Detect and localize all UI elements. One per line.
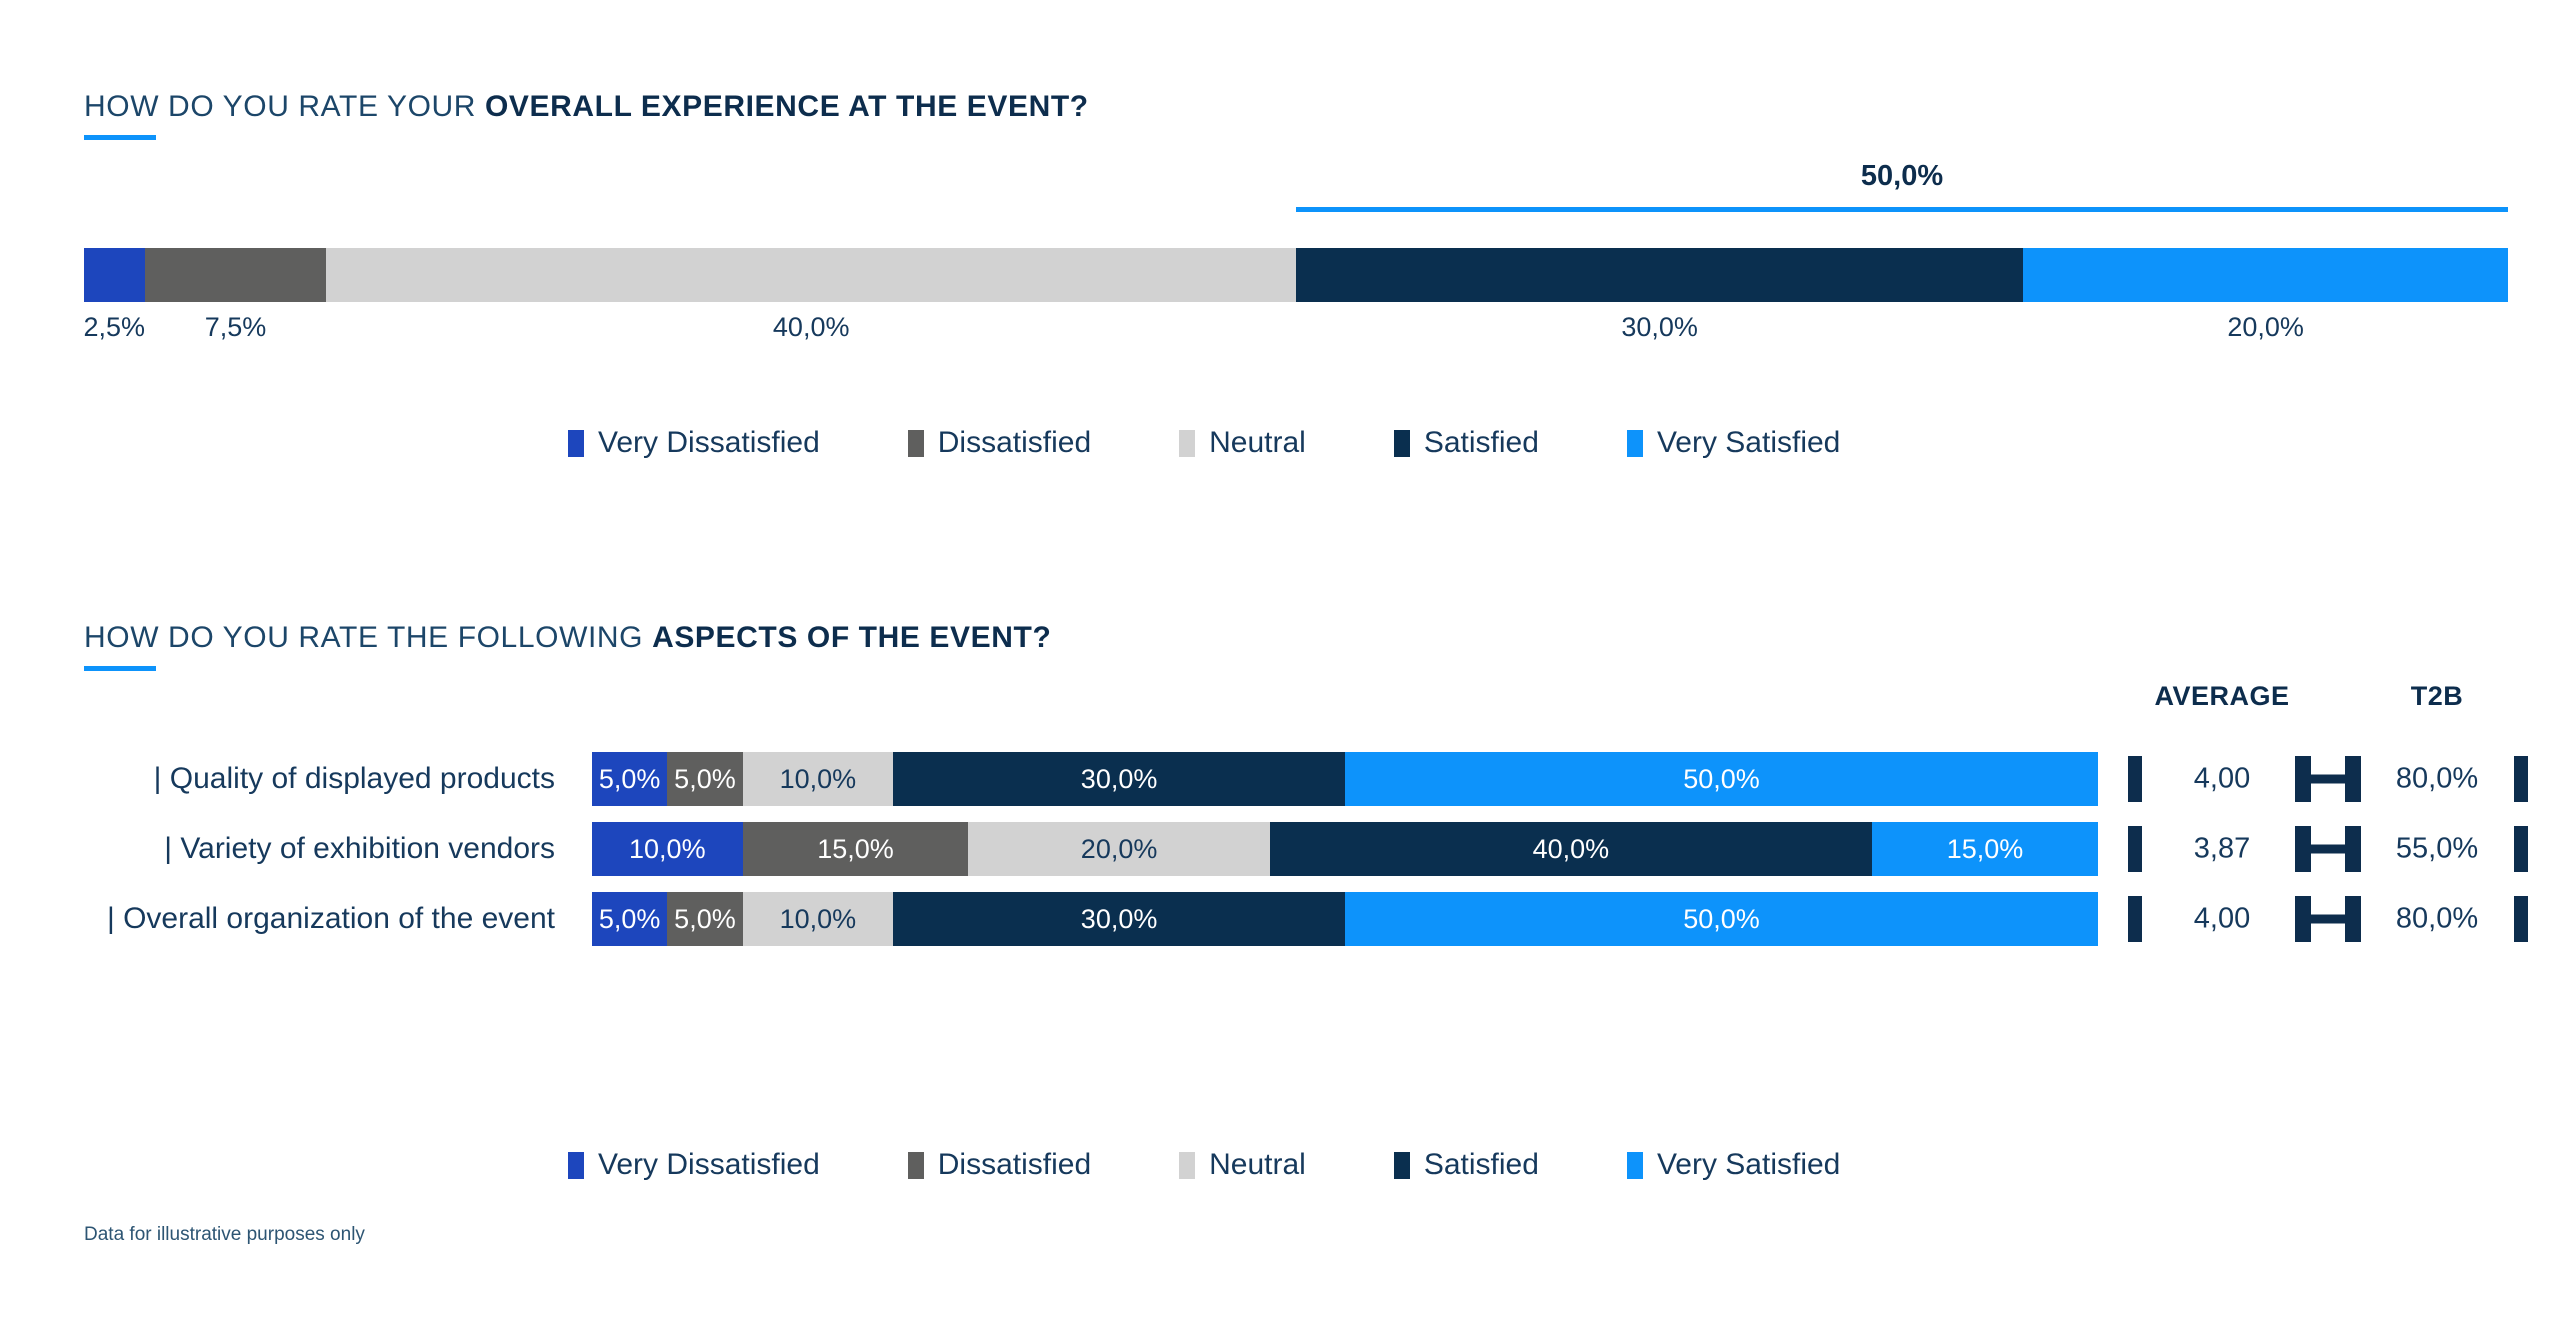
aspect-bar-segment-very-dissatisfied: 10,0% — [592, 822, 743, 876]
aspect-bar-segment-satisfied: 40,0% — [1270, 822, 1872, 876]
section2-title-bold: ASPECTS OF THE EVENT? — [652, 621, 1051, 654]
aspect-row-label: | Overall organization of the event — [107, 902, 555, 936]
aspect-stacked-bar: 5,0%5,0%10,0%30,0%50,0% — [592, 752, 2098, 806]
legend-section1: Very DissatisfiedDissatisfiedNeutralSati… — [568, 426, 1840, 460]
overall-bar-segment-dissatisfied — [145, 248, 327, 302]
section2-title-underline — [84, 666, 156, 671]
legend-label: Neutral — [1209, 426, 1306, 460]
section2-title: HOW DO YOU RATE THE FOLLOWING ASPECTS OF… — [84, 621, 1051, 655]
aspect-bar-segment-satisfied: 30,0% — [893, 892, 1345, 946]
aspect-row-label: | Quality of displayed products — [154, 762, 555, 796]
column-header-t2b: T2B — [2411, 681, 2464, 712]
h-beam-divider-icon — [2295, 756, 2361, 802]
legend-item-neutral[interactable]: Neutral — [1179, 1148, 1306, 1182]
aspect-bar-segment-very-satisfied: 50,0% — [1345, 892, 2098, 946]
h-beam-post-right — [2345, 756, 2361, 802]
h-beam-divider-icon — [2295, 826, 2361, 872]
legend-swatch-icon-very-dissatisfied — [568, 1152, 584, 1179]
aspect-bar-segment-very-satisfied: 50,0% — [1345, 752, 2098, 806]
h-beam-crossbar — [2309, 775, 2347, 784]
average-value: 4,00 — [2194, 903, 2250, 936]
aspect-bar-segment-dissatisfied: 5,0% — [667, 752, 742, 806]
overall-bar-segment-very-dissatisfied — [84, 248, 145, 302]
average-value: 3,87 — [2194, 833, 2250, 866]
legend-item-neutral[interactable]: Neutral — [1179, 426, 1306, 460]
legend-label: Satisfied — [1424, 426, 1539, 460]
column-divider-tick-left — [2128, 896, 2142, 942]
legend-label: Neutral — [1209, 1148, 1306, 1182]
aspect-row-label: | Variety of exhibition vendors — [164, 832, 555, 866]
section1-t2b-value: 50,0% — [1861, 160, 1943, 193]
legend-label: Very Satisfied — [1657, 1148, 1840, 1182]
legend-item-very-satisfied[interactable]: Very Satisfied — [1627, 426, 1840, 460]
overall-bar-label-dissatisfied: 7,5% — [205, 312, 267, 343]
legend-item-very-dissatisfied[interactable]: Very Dissatisfied — [568, 426, 820, 460]
footnote: Data for illustrative purposes only — [84, 1224, 365, 1246]
section1-title-bold: OVERALL EXPERIENCE AT THE EVENT? — [485, 90, 1089, 123]
legend-item-very-satisfied[interactable]: Very Satisfied — [1627, 1148, 1840, 1182]
aspect-bar-segment-very-satisfied: 15,0% — [1872, 822, 2098, 876]
aspect-stacked-bar: 10,0%15,0%20,0%40,0%15,0% — [592, 822, 2098, 876]
legend-swatch-icon-neutral — [1179, 1152, 1195, 1179]
legend-swatch-icon-satisfied — [1394, 1152, 1410, 1179]
column-divider-tick-right — [2514, 826, 2528, 872]
legend-section2: Very DissatisfiedDissatisfiedNeutralSati… — [568, 1148, 1840, 1182]
aspect-bar-segment-dissatisfied: 15,0% — [743, 822, 969, 876]
legend-swatch-icon-very-satisfied — [1627, 430, 1643, 457]
aspect-bar-segment-neutral: 20,0% — [968, 822, 1269, 876]
aspect-bar-segment-dissatisfied: 5,0% — [667, 892, 742, 946]
overall-bar-segment-satisfied — [1296, 248, 2023, 302]
column-divider-tick-left — [2128, 826, 2142, 872]
legend-swatch-icon-very-dissatisfied — [568, 430, 584, 457]
legend-swatch-icon-satisfied — [1394, 430, 1410, 457]
legend-item-dissatisfied[interactable]: Dissatisfied — [908, 426, 1091, 460]
overall-bar-label-very-satisfied: 20,0% — [2227, 312, 2304, 343]
legend-item-very-dissatisfied[interactable]: Very Dissatisfied — [568, 1148, 820, 1182]
section1-title: HOW DO YOU RATE YOUR OVERALL EXPERIENCE … — [84, 90, 1089, 124]
section2-title-light: HOW DO YOU RATE THE FOLLOWING — [84, 621, 652, 654]
survey-results-slide: HOW DO YOU RATE YOUR OVERALL EXPERIENCE … — [0, 0, 2560, 1324]
average-value: 4,00 — [2194, 763, 2250, 796]
table-row: | Variety of exhibition vendors10,0%15,0… — [0, 822, 2560, 876]
section1-title-light: HOW DO YOU RATE YOUR — [84, 90, 485, 123]
aspect-stacked-bar: 5,0%5,0%10,0%30,0%50,0% — [592, 892, 2098, 946]
overall-bar-segment-very-satisfied — [2023, 248, 2508, 302]
column-divider-tick-right — [2514, 896, 2528, 942]
overall-bar-label-satisfied: 30,0% — [1621, 312, 1698, 343]
column-divider-tick-right — [2514, 756, 2528, 802]
legend-label: Satisfied — [1424, 1148, 1539, 1182]
legend-label: Dissatisfied — [938, 1148, 1091, 1182]
aspect-bar-segment-neutral: 10,0% — [743, 892, 894, 946]
section1-t2b-underline — [1296, 207, 2508, 212]
section1-title-underline — [84, 135, 156, 140]
legend-swatch-icon-dissatisfied — [908, 430, 924, 457]
overall-experience-stacked-bar — [84, 248, 2508, 302]
overall-bar-segment-neutral — [326, 248, 1296, 302]
h-beam-divider-icon — [2295, 896, 2361, 942]
column-divider-tick-left — [2128, 756, 2142, 802]
overall-experience-segment-labels: 2,5%7,5%40,0%30,0%20,0% — [84, 312, 2508, 346]
table-row: | Quality of displayed products5,0%5,0%1… — [0, 752, 2560, 806]
legend-item-satisfied[interactable]: Satisfied — [1394, 1148, 1539, 1182]
t2b-value: 80,0% — [2396, 763, 2478, 796]
legend-swatch-icon-neutral — [1179, 430, 1195, 457]
legend-label: Very Satisfied — [1657, 426, 1840, 460]
aspect-bar-segment-satisfied: 30,0% — [893, 752, 1345, 806]
aspect-bar-segment-neutral: 10,0% — [743, 752, 894, 806]
overall-bar-label-very-dissatisfied: 2,5% — [84, 312, 146, 343]
legend-label: Very Dissatisfied — [598, 1148, 820, 1182]
h-beam-post-right — [2345, 826, 2361, 872]
legend-label: Very Dissatisfied — [598, 426, 820, 460]
aspect-bar-segment-very-dissatisfied: 5,0% — [592, 752, 667, 806]
h-beam-post-right — [2345, 896, 2361, 942]
legend-label: Dissatisfied — [938, 426, 1091, 460]
t2b-value: 55,0% — [2396, 833, 2478, 866]
column-header-average: AVERAGE — [2154, 681, 2289, 712]
t2b-value: 80,0% — [2396, 903, 2478, 936]
section1-t2b-callout: 50,0% — [1296, 160, 2508, 220]
h-beam-crossbar — [2309, 845, 2347, 854]
legend-swatch-icon-dissatisfied — [908, 1152, 924, 1179]
overall-bar-label-neutral: 40,0% — [773, 312, 850, 343]
legend-swatch-icon-very-satisfied — [1627, 1152, 1643, 1179]
legend-item-satisfied[interactable]: Satisfied — [1394, 426, 1539, 460]
aspect-bar-segment-very-dissatisfied: 5,0% — [592, 892, 667, 946]
h-beam-crossbar — [2309, 915, 2347, 924]
legend-item-dissatisfied[interactable]: Dissatisfied — [908, 1148, 1091, 1182]
table-row: | Overall organization of the event5,0%5… — [0, 892, 2560, 946]
